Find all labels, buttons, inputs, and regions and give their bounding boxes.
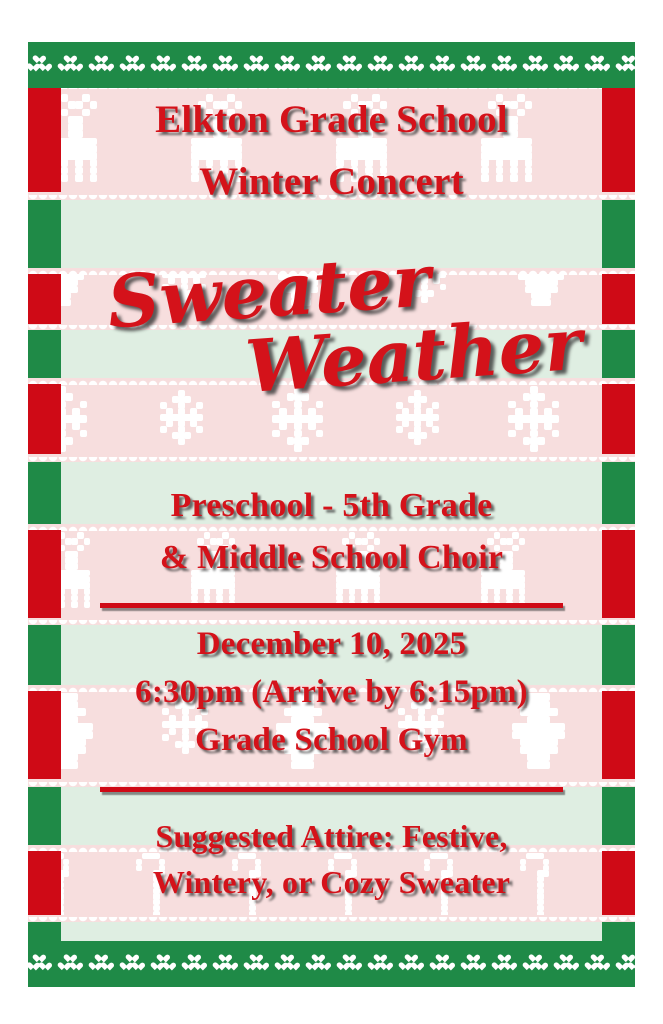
- title-line-1: Elkton Grade School: [28, 92, 635, 148]
- performers-line-2: & Middle School Choir: [28, 534, 635, 582]
- divider-rule-2: [100, 787, 563, 792]
- script-title: Sweater Weather: [28, 229, 635, 419]
- attire-line-1: Suggested Attire: Festive,: [28, 814, 635, 858]
- event-date: December 10, 2025: [28, 622, 635, 666]
- title-line-2: Winter Concert: [28, 154, 635, 210]
- poster: Elkton Grade School Winter Concert Sweat…: [0, 0, 663, 1024]
- poster-content: Elkton Grade School Winter Concert Sweat…: [28, 42, 635, 987]
- divider-rule-1: [100, 603, 563, 608]
- event-location: Grade School Gym: [28, 718, 635, 762]
- performers-line-1: Preschool - 5th Grade: [28, 482, 635, 530]
- event-time: 6:30pm (Arrive by 6:15pm): [28, 670, 635, 714]
- attire-line-2: Wintery, or Cozy Sweater: [28, 860, 635, 904]
- poster-artwork: Elkton Grade School Winter Concert Sweat…: [28, 42, 635, 987]
